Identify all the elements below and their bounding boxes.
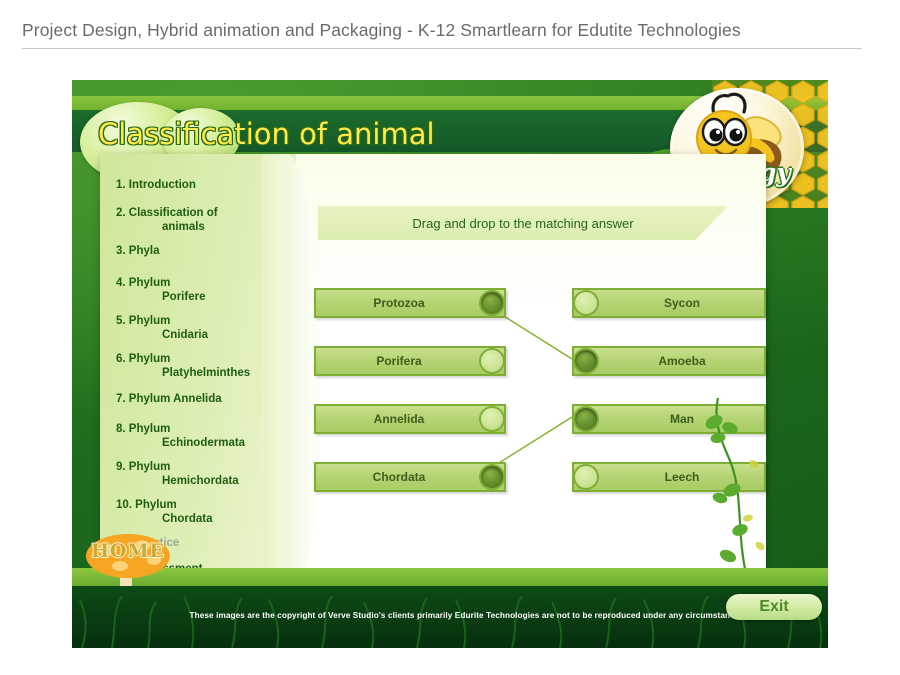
option-label: Porifera (376, 354, 421, 368)
option-left-protozoa[interactable]: Protozoa (314, 288, 506, 318)
sidebar-item-phylum-annelida[interactable]: 7. Phylum Annelida (116, 392, 282, 406)
sidebar-item-label-cont: Cnidaria (116, 328, 282, 342)
connector-knob[interactable] (573, 464, 599, 490)
sidebar-item-label-cont: Echinodermata (116, 436, 282, 450)
sidebar-item-label: 3. Phyla (116, 245, 159, 257)
option-left-porifera[interactable]: Porifera (314, 346, 506, 376)
connector-knob[interactable] (573, 348, 599, 374)
sidebar-item-label: 4. Phylum (116, 277, 170, 289)
sidebar-item-phylum[interactable]: 8. PhylumEchinodermata (116, 422, 282, 450)
sidebar-item-label-cont: Chordata (116, 512, 282, 526)
sidebar-item-classification-of[interactable]: 2. Classification ofanimals (116, 206, 282, 234)
instruction-banner: Drag and drop to the matching answer (318, 206, 728, 240)
courseware-stage: Classification of animal (72, 80, 828, 648)
sidebar-item-phyla[interactable]: 3. Phyla (116, 244, 282, 258)
option-left-chordata[interactable]: Chordata (314, 462, 506, 492)
connector-knob[interactable] (573, 406, 599, 432)
connector-knob[interactable] (573, 290, 599, 316)
sidebar-item-label: 10. Phylum (116, 499, 177, 511)
sidebar-item-label-cont: animals (116, 220, 282, 234)
vine-decoration-icon (684, 398, 770, 574)
connector-knob[interactable] (479, 348, 505, 374)
option-label: Chordata (373, 470, 426, 484)
option-label: Protozoa (373, 296, 424, 310)
option-left-annelida[interactable]: Annelida (314, 404, 506, 434)
sidebar-item-phylum[interactable]: 9. PhylumHemichordata (116, 460, 282, 488)
sidebar-item-label-cont: Platyhelminthes (116, 366, 282, 380)
option-label: Annelida (374, 412, 425, 426)
option-right-sycon[interactable]: Sycon (572, 288, 766, 318)
page-title: Project Design, Hybrid animation and Pac… (22, 20, 862, 49)
sidebar-item-label: 8. Phylum (116, 423, 170, 435)
home-button-label[interactable]: HOME (84, 540, 172, 562)
sidebar-item-label: 7. Phylum Annelida (116, 393, 222, 405)
copyright-notice: These images are the copyright of Verve … (168, 606, 768, 626)
sidebar-item-label: 2. Classification of (116, 207, 218, 219)
sidebar-item-label: 1. Introduction (116, 179, 196, 191)
option-label: Sycon (664, 296, 700, 310)
connector-knob[interactable] (479, 464, 505, 490)
option-label: Amoeba (658, 354, 705, 368)
sidebar-item-label-cont: Hemichordata (116, 474, 282, 488)
connector-knob[interactable] (479, 290, 505, 316)
connector-knob[interactable] (479, 406, 505, 432)
sidebar-item-label: 6. Phylum (116, 353, 170, 365)
sidebar-item-phylum[interactable]: 4. PhylumPorifere (116, 276, 282, 304)
exit-button[interactable]: Exit (726, 594, 822, 620)
lesson-title: Classification of animal (98, 116, 435, 152)
sidebar-item-label-cont: Porifere (116, 290, 282, 304)
option-right-amoeba[interactable]: Amoeba (572, 346, 766, 376)
sidebar-item-phylum[interactable]: 5. PhylumCnidaria (116, 314, 282, 342)
sidebar-item-phylum[interactable]: 6. PhylumPlatyhelminthes (116, 352, 282, 380)
sidebar-item-label: 5. Phylum (116, 315, 170, 327)
lesson-page: 1. Introduction2. Classification ofanima… (100, 154, 766, 604)
sidebar-item-introduction[interactable]: 1. Introduction (116, 178, 282, 192)
sidebar-item-phylum[interactable]: 10. PhylumChordata (116, 498, 282, 526)
sidebar-item-label: 9. Phylum (116, 461, 170, 473)
